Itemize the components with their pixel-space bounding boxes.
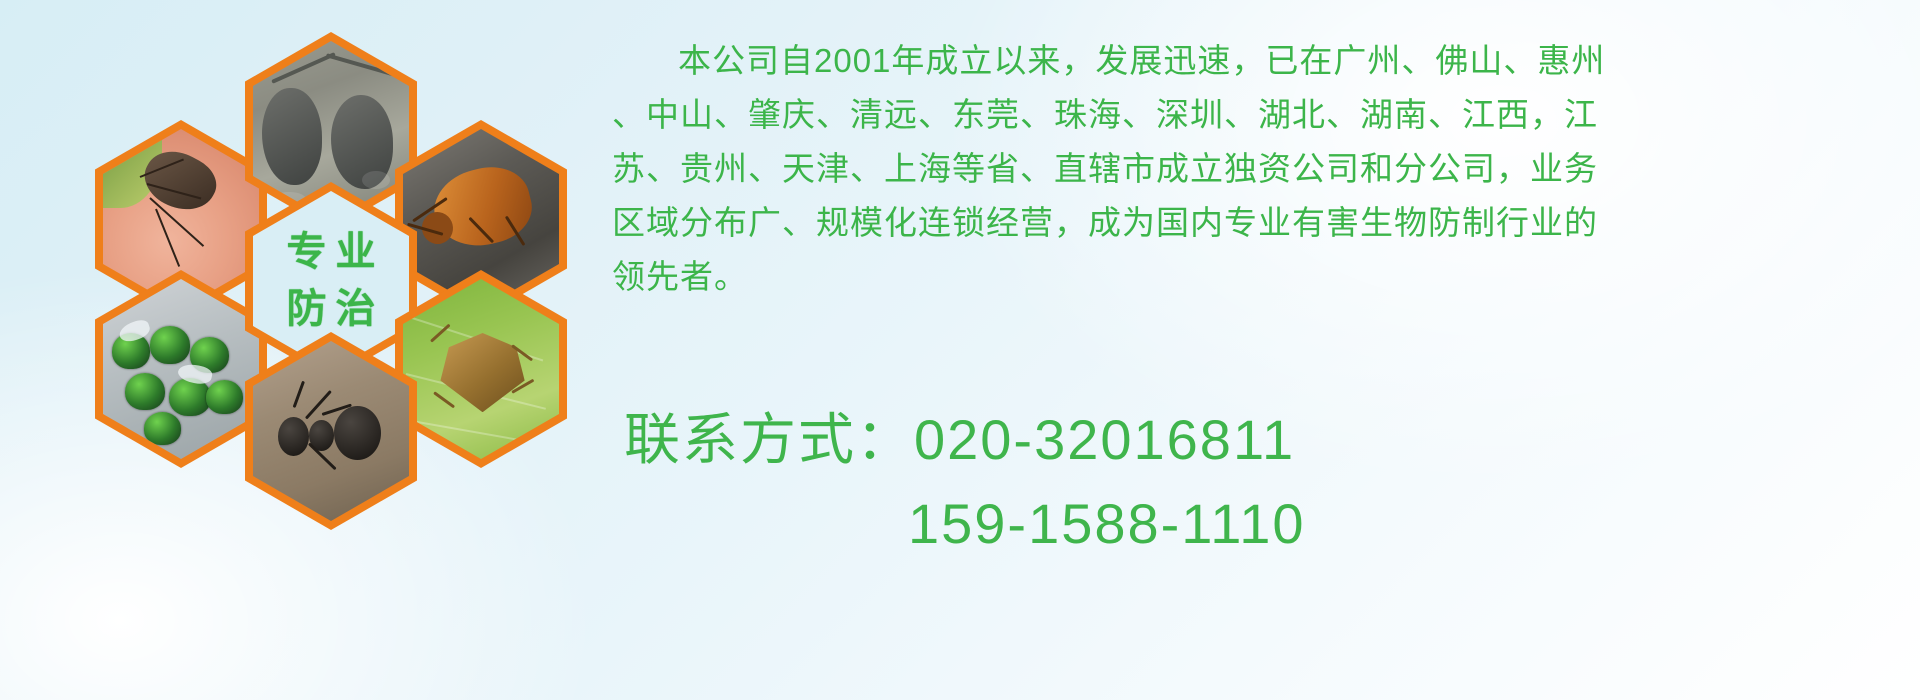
fly [206, 380, 243, 414]
banner-root: 专业 防治 [0, 0, 1920, 700]
rat-body [262, 88, 321, 185]
hexagon-stinkbug-photo [395, 270, 567, 468]
hexagon-inner [253, 341, 409, 521]
hexagon-ant-photo [245, 332, 417, 530]
fly [125, 373, 166, 411]
stinkbug-photo [403, 279, 559, 459]
ant-abdomen [334, 406, 381, 460]
ant-photo [253, 341, 409, 521]
ground-texture [362, 171, 390, 189]
intro-line: 区域分布广、规模化连锁经营，成为国内专业有害生物防制行业的 [612, 196, 1880, 250]
hexagon-inner [103, 279, 259, 459]
contact-phone-primary[interactable]: 联系方式：020-32016811 [612, 398, 1902, 482]
ant-antenna [292, 380, 304, 407]
logo-line-1: 专业 [278, 224, 385, 281]
intro-line: 苏、贵州、天津、上海等省、直辖市成立独资公司和分公司，业务 [612, 142, 1880, 196]
intro-line: 本公司自2001年成立以来，发展迅速，已在广州、佛山、惠州 [612, 34, 1880, 88]
rat-tail [271, 52, 335, 84]
contact-block: 联系方式：020-32016811 159-1588-1110 [612, 398, 1902, 566]
logo-line-2: 防治 [278, 281, 385, 338]
fly [150, 326, 191, 364]
fly [169, 378, 211, 416]
intro-line: 领先者。 [612, 250, 1880, 304]
rat-tail [326, 53, 396, 77]
mosquito-leg [155, 209, 180, 268]
hexagon-flies-photo [95, 270, 267, 468]
flies-photo [103, 279, 259, 459]
ant-head [278, 417, 309, 457]
fly [144, 412, 181, 444]
leaf-vein [406, 419, 545, 445]
stinkbug-leg [433, 391, 455, 408]
intro-line: 、中山、肇庆、清远、东莞、珠海、深圳、湖北、湖南、江西，江 [612, 88, 1880, 142]
ant-leg [305, 389, 332, 419]
honeycomb-photo-collage: 专业 防治 [95, 10, 595, 580]
contact-phone-secondary[interactable]: 159-1588-1110 [612, 482, 1902, 566]
intro-paragraph: 本公司自2001年成立以来，发展迅速，已在广州、佛山、惠州 、中山、肇庆、清远、… [612, 34, 1880, 304]
hexagon-inner [403, 279, 559, 459]
